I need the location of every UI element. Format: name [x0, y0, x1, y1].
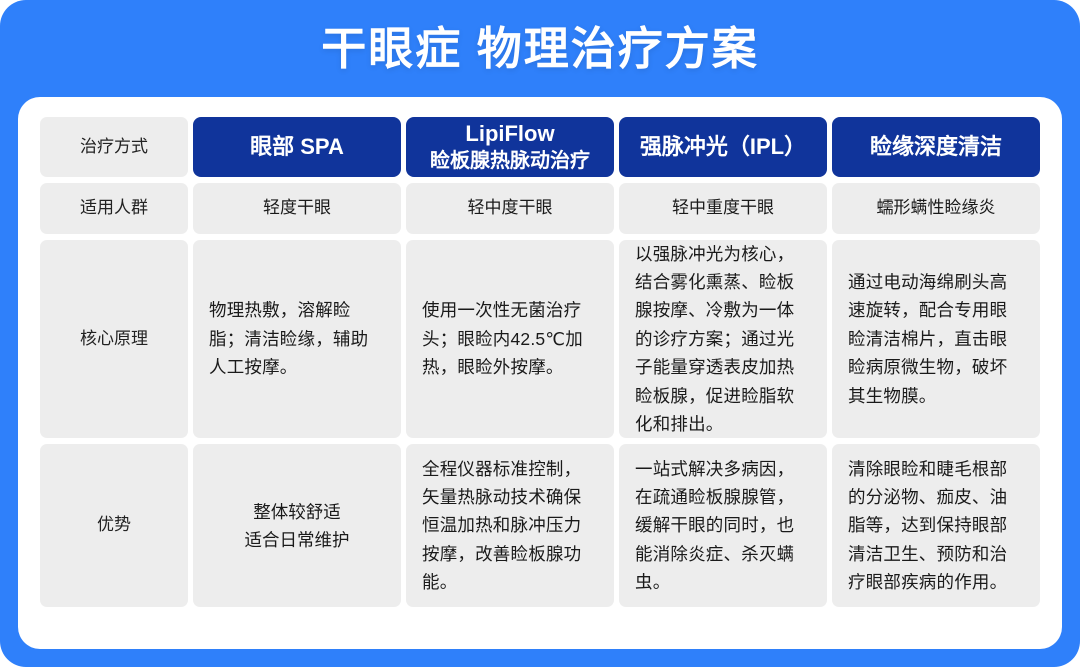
table-cell-principle-lipiflow: 使用一次性无菌治疗头；眼睑内42.5℃加热，眼睑外按摩。 — [406, 240, 614, 438]
table-cell-advantage-lid-margin-cleaning: 清除眼睑和睫毛根部的分泌物、痂皮、油脂等，达到保持眼部清洁卫生、预防和治疗眼部疾… — [832, 444, 1040, 607]
comparison-card: 治疗方式 眼部 SPA LipiFlow 睑板腺热脉动治疗 强脉冲光（IPL） … — [18, 97, 1062, 649]
column-header-lipiflow[interactable]: LipiFlow 睑板腺热脉动治疗 — [406, 117, 614, 177]
table-cell-principle-lid-margin-cleaning: 通过电动海绵刷头高速旋转，配合专用眼睑清洁棉片，直击眼睑病原微生物，破坏其生物膜… — [832, 240, 1040, 438]
table-cell-principle-ipl: 以强脉冲光为核心，结合雾化熏蒸、睑板腺按摩、冷敷为一体的诊疗方案；通过光子能量穿… — [619, 240, 827, 438]
table-cell-population-eye-spa: 轻度干眼 — [193, 183, 401, 234]
table-cell-principle-eye-spa: 物理热敷，溶解睑脂；清洁睑缘，辅助人工按摩。 — [193, 240, 401, 438]
comparison-table: 治疗方式 眼部 SPA LipiFlow 睑板腺热脉动治疗 强脉冲光（IPL） … — [40, 117, 1040, 627]
table-cell-advantage-eye-spa: 整体较舒适 适合日常维护 — [193, 444, 401, 607]
row-label-core-principle: 核心原理 — [40, 240, 188, 438]
row-label-target-population: 适用人群 — [40, 183, 188, 234]
row-label-treatment-type: 治疗方式 — [40, 117, 188, 177]
table-cell-population-lipiflow: 轻中度干眼 — [406, 183, 614, 234]
column-header-eye-spa[interactable]: 眼部 SPA — [193, 117, 401, 177]
poster-root: 干眼症 物理治疗方案 治疗方式 眼部 SPA LipiFlow 睑板腺热脉动治疗… — [0, 0, 1080, 667]
table-cell-advantage-lipiflow: 全程仪器标准控制，矢量热脉动技术确保恒温加热和脉冲压力按摩，改善睑板腺功能。 — [406, 444, 614, 607]
table-cell-advantage-ipl: 一站式解决多病因，在疏通睑板腺腺管，缓解干眼的同时，也能消除炎症、杀灭螨虫。 — [619, 444, 827, 607]
table-cell-population-lid-margin-cleaning: 蠕形螨性睑缘炎 — [832, 183, 1040, 234]
page-title: 干眼症 物理治疗方案 — [0, 0, 1080, 72]
column-header-ipl[interactable]: 强脉冲光（IPL） — [619, 117, 827, 177]
row-label-advantages: 优势 — [40, 444, 188, 607]
table-cell-population-ipl: 轻中重度干眼 — [619, 183, 827, 234]
column-header-lid-margin-cleaning[interactable]: 睑缘深度清洁 — [832, 117, 1040, 177]
